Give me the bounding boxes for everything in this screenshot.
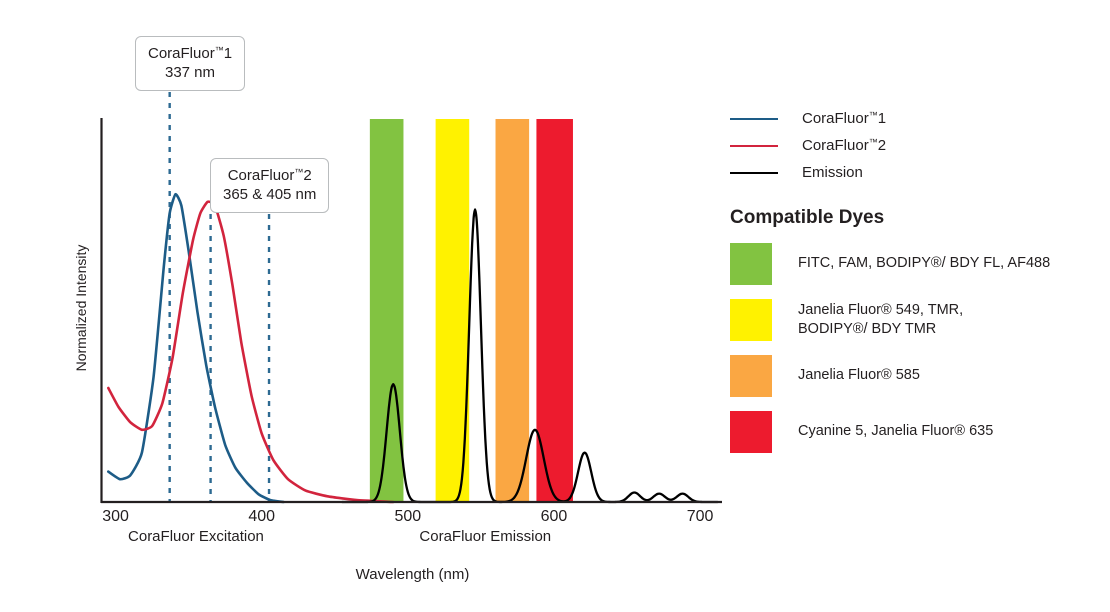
x-tick-600: 600 bbox=[524, 508, 584, 526]
dye-label-line1: Janelia Fluor® 585 bbox=[798, 367, 920, 383]
legend-label-text: CoraFluor bbox=[802, 110, 869, 127]
x-axis-section-label-excitation: CoraFluor Excitation bbox=[46, 528, 346, 545]
legend-series-label: CoraFluor™2 bbox=[802, 137, 886, 154]
legend-series-row: Emission bbox=[730, 159, 1100, 186]
legend-series-row: CoraFluor™2 bbox=[730, 132, 1100, 159]
dye-row: Janelia Fluor® 585 bbox=[730, 355, 1100, 397]
dye-label: Cyanine 5, Janelia Fluor® 635 bbox=[798, 422, 993, 441]
legend-line-swatch bbox=[730, 145, 778, 147]
legend-label-text: CoraFluor bbox=[802, 137, 869, 154]
x-axis-section-label-emission: CoraFluor Emission bbox=[335, 528, 635, 545]
dye-color-swatch bbox=[730, 355, 772, 397]
callout-cf1-line2: 337 nm bbox=[148, 63, 232, 82]
dye-row: Cyanine 5, Janelia Fluor® 635 bbox=[730, 411, 1100, 453]
dye-color-swatch bbox=[730, 411, 772, 453]
legend-series-label: Emission bbox=[802, 164, 863, 181]
legend-series-label: CoraFluor™1 bbox=[802, 110, 886, 127]
x-tick-400: 400 bbox=[232, 508, 292, 526]
dye-label-line2: BODIPY®/ BDY TMR bbox=[798, 320, 963, 339]
callout-cf2-line2: 365 & 405 nm bbox=[223, 185, 316, 204]
dye-color-swatch bbox=[730, 243, 772, 285]
curve-337nm-excitation bbox=[108, 194, 283, 502]
callout-corafluor1: CoraFluor™1 337 nm bbox=[135, 36, 245, 91]
dye-color-swatch bbox=[730, 299, 772, 341]
callout-cf1-line1: CoraFluor™1 bbox=[148, 44, 232, 63]
legend-label-text: Emission bbox=[802, 164, 863, 181]
legend-panel: CoraFluor™1CoraFluor™2Emission Compatibl… bbox=[730, 105, 1100, 467]
series-legend: CoraFluor™1CoraFluor™2Emission bbox=[730, 105, 1100, 186]
y-axis-title: Normalized Intensity bbox=[73, 213, 89, 403]
dye-label-line1: FITC, FAM, BODIPY®/ BDY FL, AF488 bbox=[798, 255, 1050, 271]
dye-label: Janelia Fluor® 549, TMR,BODIPY®/ BDY TMR bbox=[798, 301, 963, 340]
legend-label-suffix: 2 bbox=[878, 137, 886, 154]
excitation-marker-lines bbox=[170, 92, 269, 502]
orange-band bbox=[496, 119, 530, 502]
dye-row: FITC, FAM, BODIPY®/ BDY FL, AF488 bbox=[730, 243, 1100, 285]
dye-label-line1: Janelia Fluor® 549, TMR, bbox=[798, 302, 963, 318]
legend-line-swatch bbox=[730, 118, 778, 120]
x-axis-title: Wavelength (nm) bbox=[0, 566, 825, 583]
x-tick-300: 300 bbox=[86, 508, 146, 526]
dye-row: Janelia Fluor® 549, TMR,BODIPY®/ BDY TMR bbox=[730, 299, 1100, 341]
compatible-dyes-list: FITC, FAM, BODIPY®/ BDY FL, AF488Janelia… bbox=[730, 243, 1100, 453]
legend-label-suffix: 1 bbox=[878, 110, 886, 127]
dye-label: FITC, FAM, BODIPY®/ BDY FL, AF488 bbox=[798, 254, 1050, 273]
x-tick-500: 500 bbox=[378, 508, 438, 526]
callout-corafluor2: CoraFluor™2 365 & 405 nm bbox=[210, 158, 329, 213]
callout-cf2-line1: CoraFluor™2 bbox=[223, 166, 316, 185]
legend-series-row: CoraFluor™1 bbox=[730, 105, 1100, 132]
spectra-curves bbox=[108, 194, 717, 502]
dye-label-line1: Cyanine 5, Janelia Fluor® 635 bbox=[798, 423, 993, 439]
x-tick-700: 700 bbox=[670, 508, 730, 526]
curve-365nm-excitation bbox=[108, 202, 393, 502]
legend-line-swatch bbox=[730, 172, 778, 174]
fluorescence-spectra-figure: CoraFluor™1 337 nm CoraFluor™2 365 & 405… bbox=[0, 0, 1110, 612]
dye-label: Janelia Fluor® 585 bbox=[798, 366, 920, 385]
green-band bbox=[370, 119, 404, 502]
trademark-symbol: ™ bbox=[215, 45, 224, 55]
trademark-symbol: ™ bbox=[869, 110, 878, 120]
compatible-dyes-title: Compatible Dyes bbox=[730, 207, 1100, 229]
trademark-symbol: ™ bbox=[869, 137, 878, 147]
